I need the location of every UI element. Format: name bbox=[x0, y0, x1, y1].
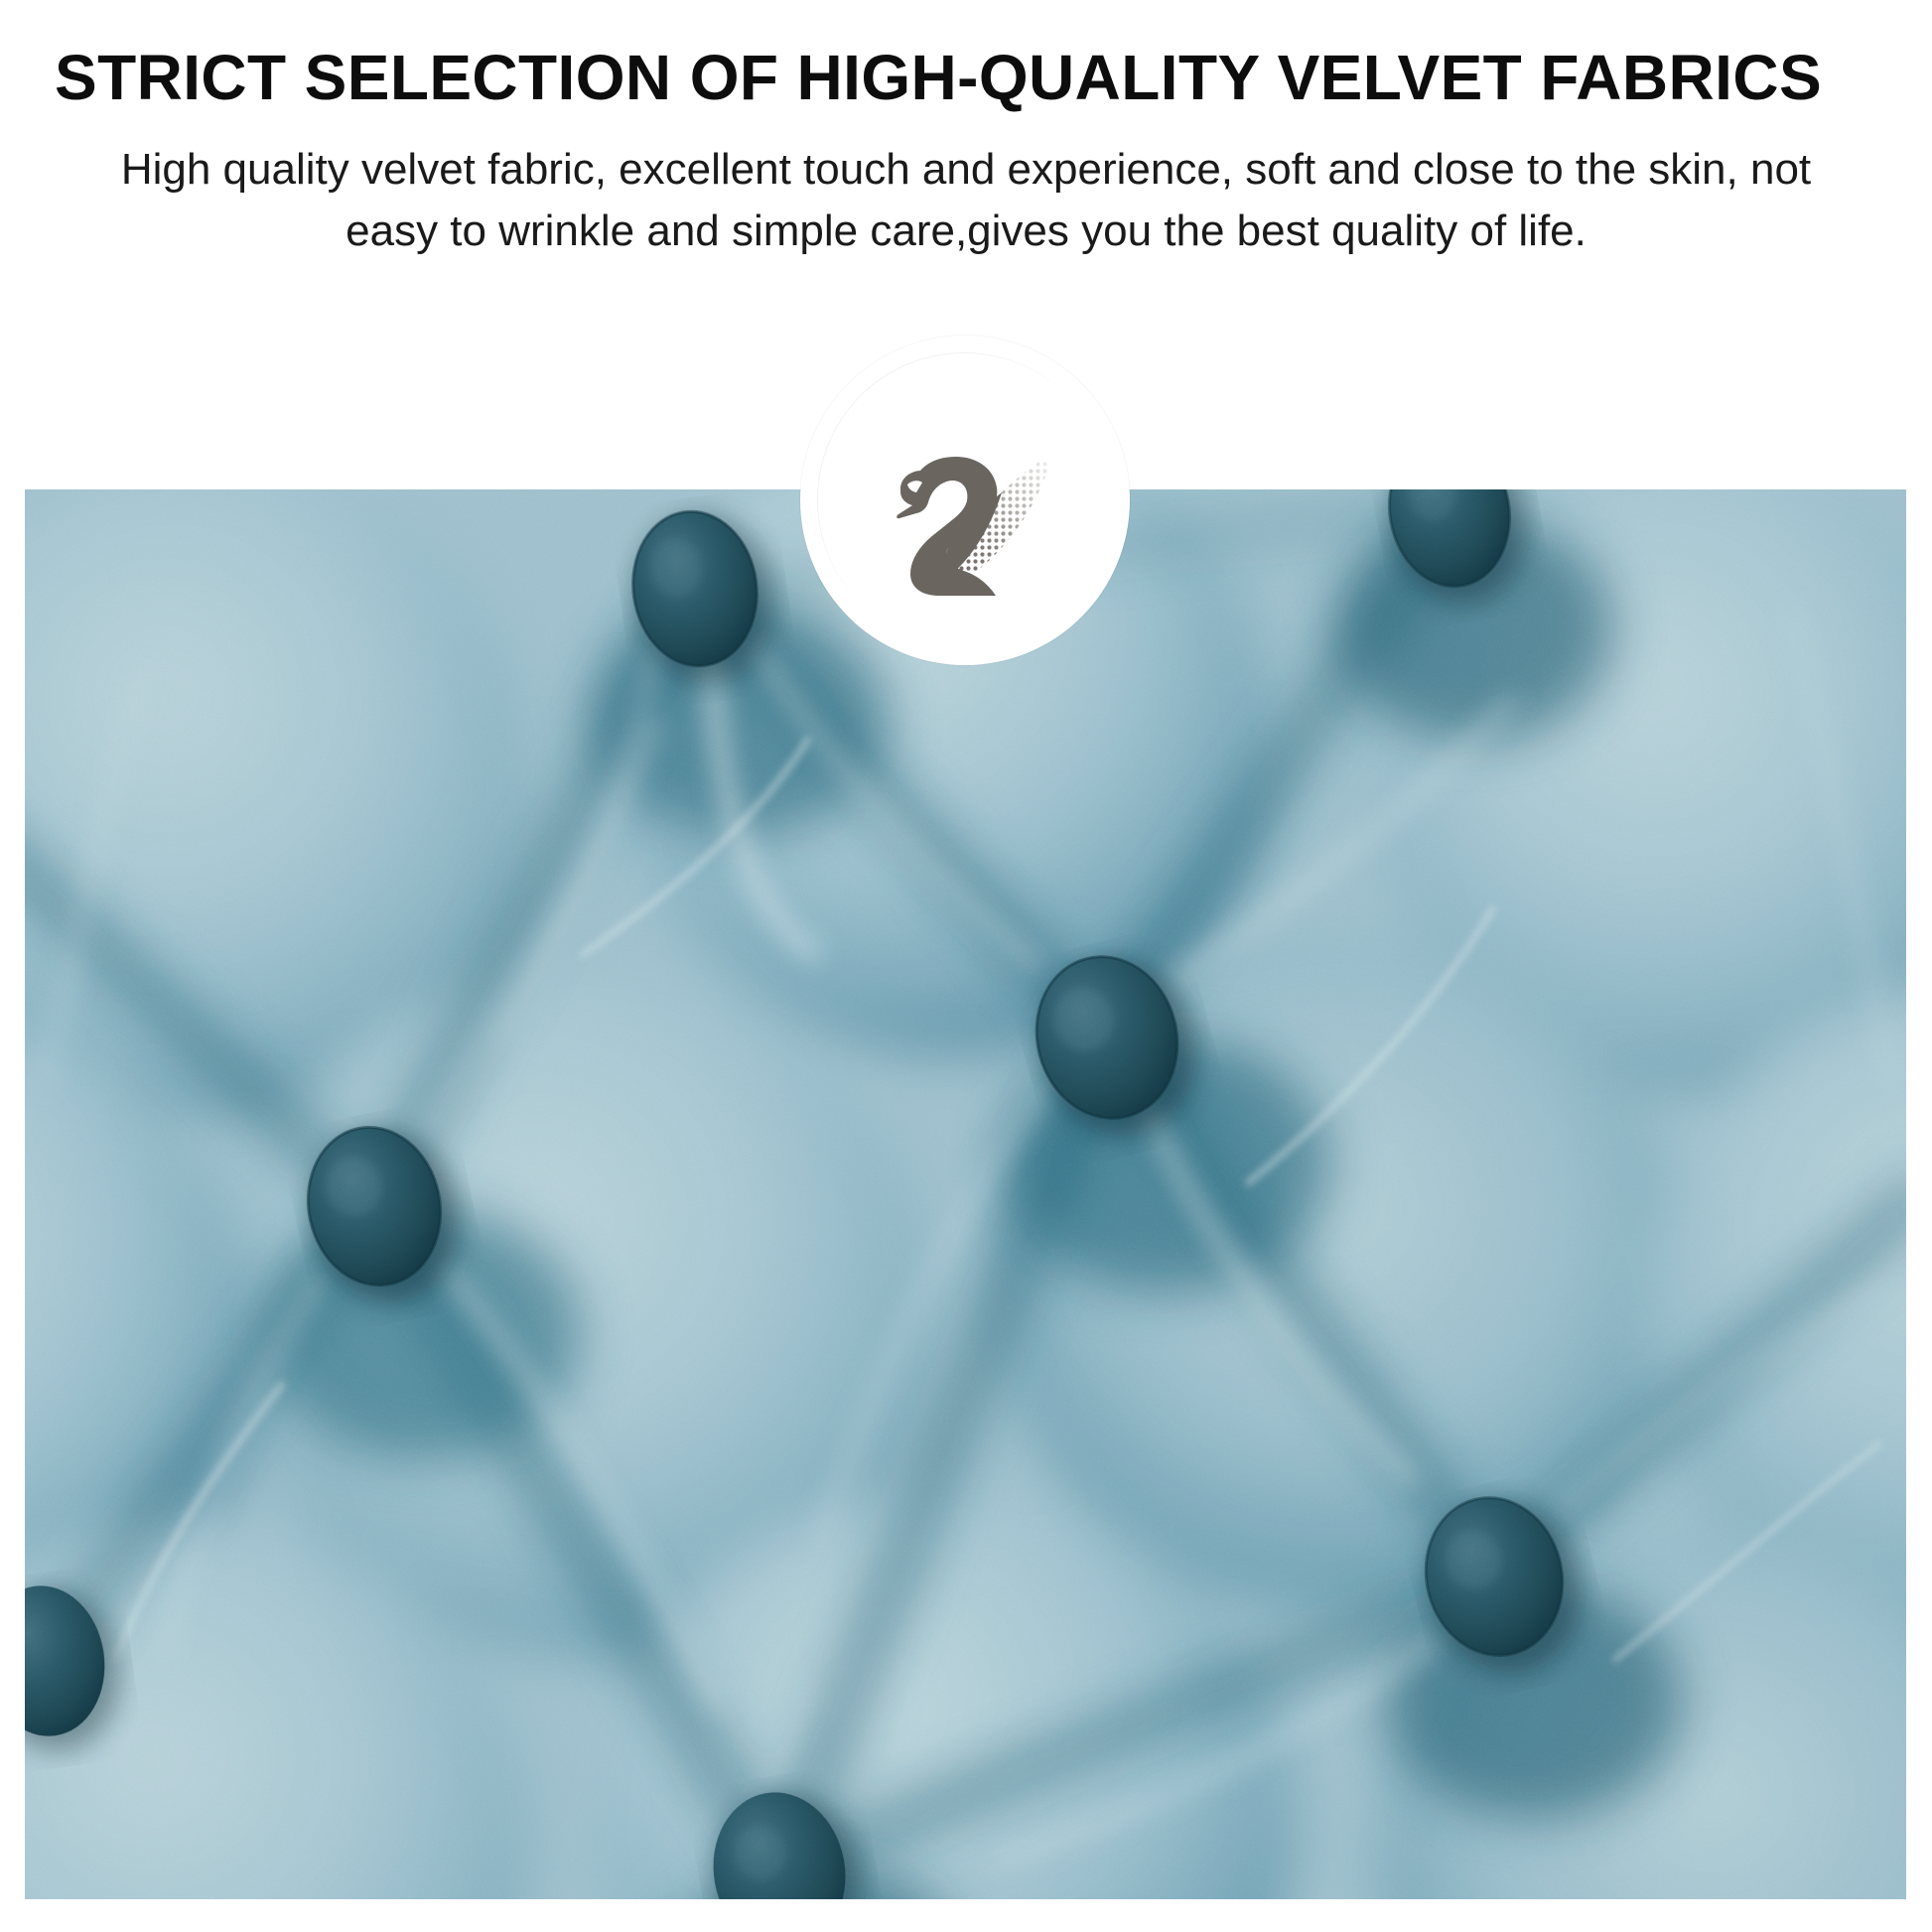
page-title: STRICT SELECTION OF HIGH-QUALITY VELVET … bbox=[55, 46, 1822, 109]
fabric-illustration bbox=[25, 489, 1906, 1899]
page-subtitle: High quality velvet fabric, excellent to… bbox=[0, 139, 1932, 263]
subtitle-line-1: High quality velvet fabric, excellent to… bbox=[89, 139, 1843, 201]
swan-logo-badge bbox=[800, 336, 1130, 665]
badge-inner-circle bbox=[818, 353, 1112, 647]
tufted-velvet-fabric-photo bbox=[25, 489, 1906, 1899]
subtitle-line-2: easy to wrinkle and simple care,gives yo… bbox=[89, 201, 1843, 262]
swan-icon bbox=[861, 419, 1069, 608]
